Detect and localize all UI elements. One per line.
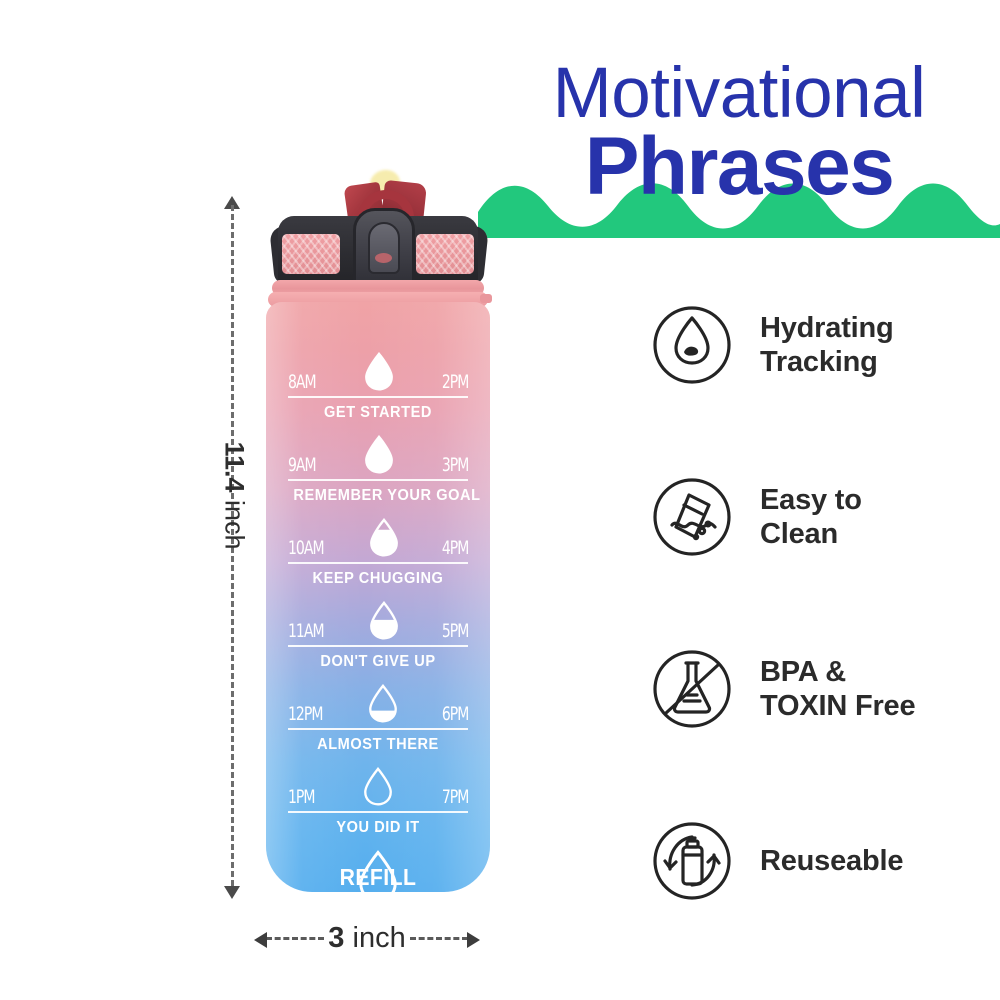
water-bottle-image: 8AM 2PM GET STARTED 9AM 3PM REMEMBER YOU… (258, 168, 498, 898)
cleaning-bottle-circle-icon (650, 475, 734, 559)
marker-right-time: 3PM (441, 454, 468, 476)
time-marker: 11AM 5PM DON'T GIVE UP (288, 601, 468, 671)
water-drop-icon (361, 435, 397, 475)
feature-item: Reuseable (650, 816, 990, 906)
marker-left-time: 10AM (288, 537, 324, 559)
time-marker-row: 12PM 6PM (288, 684, 468, 730)
cap-grip-left (282, 234, 340, 274)
marker-right-time: 7PM (441, 786, 468, 808)
marker-left-time: 11AM (288, 620, 324, 642)
marker-phrase: KEEP CHUGGING (293, 570, 462, 588)
cap-side-nub (480, 294, 492, 303)
marker-right-time: 2PM (441, 371, 468, 393)
feature-label: Easy toClean (760, 483, 862, 551)
refill-label: REFILL (295, 864, 461, 891)
marker-phrase: REMEMBER YOUR GOAL (293, 487, 462, 505)
marker-phrase: GET STARTED (293, 404, 462, 422)
bottle-body: 8AM 2PM GET STARTED 9AM 3PM REMEMBER YOU… (266, 302, 490, 892)
marker-left-time: 8AM (288, 371, 316, 393)
no-chemicals-flask-circle-icon (650, 647, 734, 731)
width-arrow-right (467, 932, 480, 948)
marker-right-time: 6PM (441, 703, 468, 725)
height-arrow-bottom (224, 886, 240, 899)
feature-label: BPA &TOXIN Free (760, 655, 915, 723)
height-dimension-label: 11.4 inch (219, 441, 250, 549)
marker-left-time: 9AM (288, 454, 316, 476)
time-marker: 8AM 2PM GET STARTED (288, 352, 468, 422)
height-dimension-line (231, 205, 234, 895)
width-dash-right (410, 937, 468, 940)
bottle-cap (258, 168, 498, 303)
time-marker-row: 9AM 3PM (288, 435, 468, 481)
time-marker: 1PM 7PM YOU DID IT (288, 767, 468, 837)
reusable-recycle-bottle-circle-icon (650, 819, 734, 903)
marker-phrase: ALMOST THERE (293, 736, 462, 754)
time-marker: 12PM 6PM ALMOST THERE (288, 684, 468, 754)
water-drop-icon (366, 601, 402, 641)
cap-flip-button (368, 222, 400, 274)
width-unit: inch (353, 922, 406, 954)
time-marker-row: 10AM 4PM (288, 518, 468, 564)
water-drop-circle-icon (650, 303, 734, 387)
title-line-1: Motivational (478, 58, 1000, 129)
water-drop-icon (360, 767, 396, 807)
time-marker: 9AM 3PM REMEMBER YOUR GOAL (288, 435, 468, 505)
feature-label: HydratingTracking (760, 311, 894, 379)
time-marker-row: 8AM 2PM (288, 352, 468, 398)
marker-phrase: DON'T GIVE UP (293, 653, 462, 671)
water-drop-icon (366, 518, 402, 558)
time-marker: 10AM 4PM KEEP CHUGGING (288, 518, 468, 588)
feature-item: Easy toClean (650, 472, 990, 562)
height-unit: inch (220, 500, 250, 550)
cap-grip-right (416, 234, 474, 274)
cap-thumb-pad (375, 253, 392, 263)
marker-phrase: YOU DID IT (293, 819, 462, 837)
width-dash-left (266, 937, 324, 940)
width-dimension-label: 3 inch (328, 922, 405, 955)
feature-label: Reuseable (760, 844, 903, 878)
marker-right-time: 4PM (441, 537, 468, 559)
height-value: 11.4 (220, 441, 250, 492)
time-marker-list: 8AM 2PM GET STARTED 9AM 3PM REMEMBER YOU… (288, 352, 468, 892)
marker-right-time: 5PM (441, 620, 468, 642)
water-drop-icon (361, 352, 397, 392)
feature-item: HydratingTracking (650, 300, 990, 390)
refill-block: REFILL (288, 850, 468, 892)
time-marker-row: 1PM 7PM (288, 767, 468, 813)
width-value: 3 (328, 922, 344, 954)
width-dimension: 3 inch (262, 918, 472, 958)
marker-left-time: 1PM (288, 786, 315, 808)
title-line-2: Phrases (478, 126, 1000, 208)
time-marker-row: 11AM 5PM (288, 601, 468, 647)
feature-list: HydratingTracking Easy toClean BPA &TOXI… (650, 300, 990, 988)
title-block: Motivational Phrases (478, 48, 1000, 238)
feature-item: BPA &TOXIN Free (650, 644, 990, 734)
water-drop-icon (365, 684, 401, 724)
width-arrow-left (254, 932, 267, 948)
marker-left-time: 12PM (288, 703, 322, 725)
